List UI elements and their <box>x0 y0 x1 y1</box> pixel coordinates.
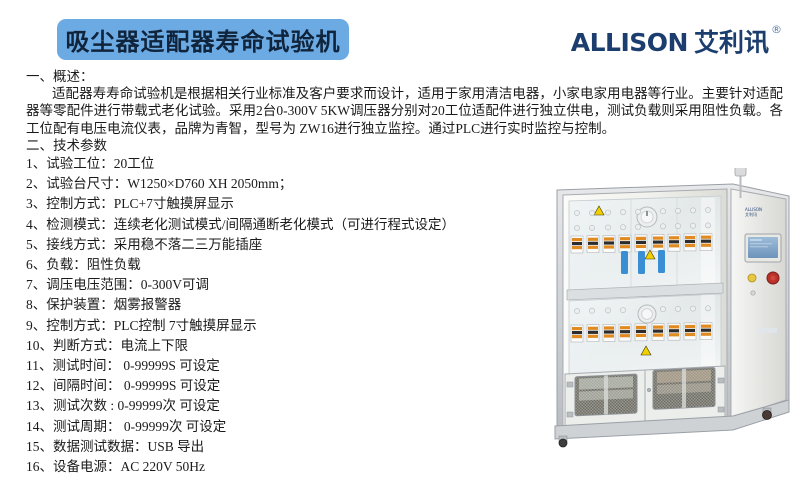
door-hinge <box>718 378 724 383</box>
logo-latin-text: ALLISON <box>571 28 688 58</box>
list-item: 16、设备电源：AC 220V 50Hz <box>26 457 496 477</box>
list-item: 1、试验工位：20工位 <box>26 154 496 174</box>
breaker-module[interactable] <box>700 323 712 340</box>
list-item: 13、测试次数 : 0-99999次 可设定 <box>26 396 496 416</box>
breaker-module[interactable] <box>587 236 599 253</box>
push-button[interactable] <box>751 291 755 295</box>
mesh-door-right[interactable] <box>653 367 715 409</box>
breaker-module[interactable] <box>684 323 696 340</box>
breaker-module[interactable] <box>571 236 583 253</box>
breaker-module[interactable] <box>668 234 680 251</box>
page-title: 吸尘器适配器寿命试验机 <box>66 22 341 57</box>
page-title-banner: 吸尘器适配器寿命试验机 <box>57 19 349 60</box>
breaker-module[interactable] <box>603 324 615 341</box>
blue-test-connector <box>621 250 665 274</box>
list-item: 11、测试时间： 0-99999S 可设定 <box>26 356 496 376</box>
parameters-heading: 二、技术参数 <box>26 137 786 154</box>
breaker-module-row-lower <box>571 323 712 342</box>
list-item: 14、测试周期： 0-99999次 可设定 <box>26 417 496 437</box>
list-item: 4、检测模式：连续老化测试模式/间隔通断老化模式（可进行程式设定） <box>26 215 496 235</box>
breaker-module[interactable] <box>587 325 599 342</box>
breaker-module[interactable] <box>619 324 631 341</box>
door-hinge <box>567 382 573 387</box>
breaker-module[interactable] <box>603 235 615 252</box>
specification-list: 1、试验工位：20工位 2、试验台尺寸：W1250×D760 XH 2050mm… <box>26 154 496 477</box>
breaker-module[interactable] <box>635 324 647 341</box>
overview-paragraph: 适配器寿寿命试验机是根据相关行业标准及客户要求而设计，适用于家用清洁电器，小家电… <box>26 85 783 137</box>
door-hinge <box>567 412 573 417</box>
door-hinge <box>718 407 724 412</box>
breaker-module[interactable] <box>619 235 631 252</box>
breaker-module[interactable] <box>684 234 696 251</box>
mesh-door-left[interactable] <box>575 374 637 416</box>
list-item: 8、保护装置：烟雾报警器 <box>26 295 496 315</box>
company-logo: ALLISON 艾利讯 ® <box>571 28 782 62</box>
logo-chinese-text: 艾利讯 <box>694 28 769 58</box>
list-item: 7、调压电压范围：0-300V可调 <box>26 275 496 295</box>
door-latch[interactable] <box>647 388 651 392</box>
caster-wheel <box>559 436 567 447</box>
status-indicator-lamp <box>748 274 756 282</box>
breaker-module[interactable] <box>571 325 583 342</box>
breaker-module[interactable] <box>668 323 680 340</box>
machine-photo: ALLISON 艾利讯 <box>505 168 797 448</box>
control-column: ALLISON 艾利讯 <box>731 189 786 418</box>
list-item: 10、判断方式：电流上下限 <box>26 336 496 356</box>
caster-wheel <box>763 408 772 420</box>
breaker-module-row-upper <box>571 234 712 253</box>
list-item: 15、数据测试数据：USB 导出 <box>26 437 496 457</box>
test-machine-illustration: ALLISON 艾利讯 <box>505 168 797 448</box>
list-item: 6、负载：阻性负载 <box>26 255 496 275</box>
svg-text:艾利讯: 艾利讯 <box>745 211 757 217</box>
list-item: 9、控制方式：PLC控制 7寸触摸屏显示 <box>26 316 496 336</box>
breaker-module[interactable] <box>700 234 712 251</box>
registered-trademark-icon: ® <box>771 24 782 36</box>
breaker-module[interactable] <box>635 235 647 252</box>
breaker-module[interactable] <box>652 235 664 252</box>
list-item: 3、控制方式：PLC+7寸触摸屏显示 <box>26 194 496 214</box>
breaker-module[interactable] <box>652 324 664 341</box>
overview-heading: 一、概述： <box>26 68 786 85</box>
list-item: 5、接线方式：采用稳不落二三万能插座 <box>26 235 496 255</box>
lower-test-bay <box>569 294 721 376</box>
list-item: 12、间隔时间： 0-99999S 可设定 <box>26 376 496 396</box>
upper-test-bay <box>569 196 721 295</box>
list-item: 2、试验台尺寸：W1250×D760 XH 2050mm； <box>26 174 496 194</box>
